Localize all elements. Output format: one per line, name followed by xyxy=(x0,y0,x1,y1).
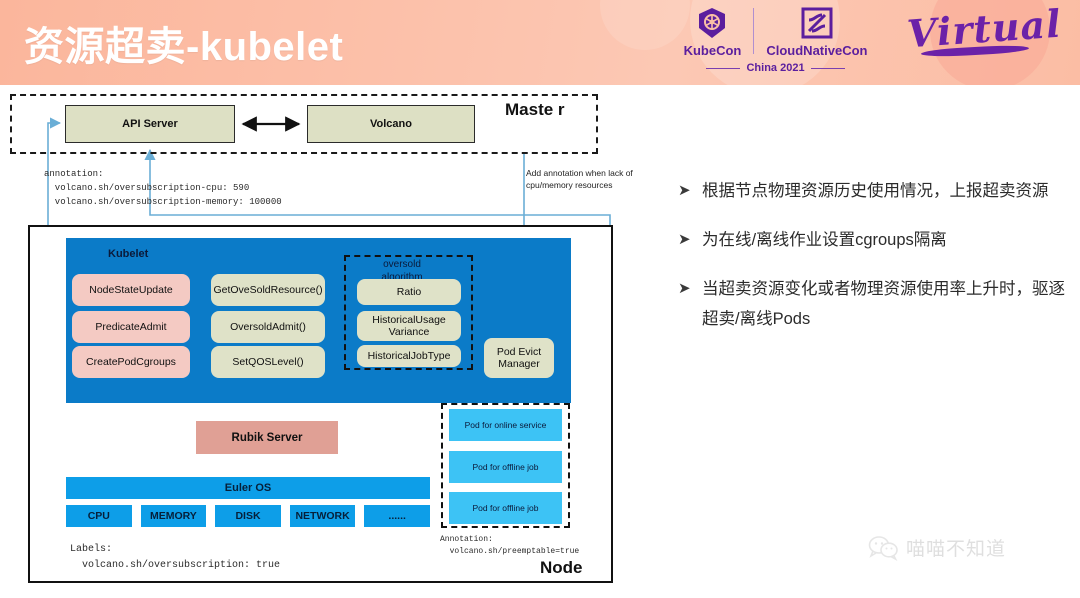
annotation-code-block: annotation: volcano.sh/oversubscription-… xyxy=(44,167,282,209)
bullet-marker-icon: ➤ xyxy=(678,274,702,304)
pod-evict-manager-box[interactable]: Pod Evict Manager xyxy=(484,338,554,378)
ratio-box[interactable]: Ratio xyxy=(357,279,461,305)
kubecon-logo: KubeCon xyxy=(672,4,754,58)
bullet-text: 为在线/离线作业设置cgroups隔离 xyxy=(702,225,1068,255)
bullet-marker-icon: ➤ xyxy=(678,225,702,255)
list-item: ➤ 为在线/离线作业设置cgroups隔离 xyxy=(678,225,1068,255)
bullet-text: 当超卖资源变化或者物理资源使用率上升时，驱逐超卖/离线Pods xyxy=(702,274,1068,334)
bullet-text: 根据节点物理资源历史使用情况，上报超卖资源 xyxy=(702,176,1068,206)
virtual-badge: Virtual xyxy=(907,6,1062,51)
cloudnativecon-label: CloudNativeCon xyxy=(766,43,867,58)
resource-row: CPU MEMORY DISK NETWORK ...... xyxy=(66,505,430,527)
resource-more[interactable]: ...... xyxy=(364,505,430,527)
kubecon-label: KubeCon xyxy=(684,43,742,58)
wechat-watermark: 喵喵不知道 xyxy=(868,534,1006,561)
list-item: ➤ 当超卖资源变化或者物理资源使用率上升时，驱逐超卖/离线Pods xyxy=(678,274,1068,334)
rubik-server-box[interactable]: Rubik Server xyxy=(196,421,338,454)
resource-disk[interactable]: DISK xyxy=(215,505,281,527)
slide-header: 资源超卖-kubelet xyxy=(0,0,1080,85)
oversold-admit-box[interactable]: OversoldAdmit() xyxy=(211,311,325,343)
resource-network[interactable]: NETWORK xyxy=(290,505,356,527)
bullet-list: ➤ 根据节点物理资源历史使用情况，上报超卖资源 ➤ 为在线/离线作业设置cgro… xyxy=(678,176,1068,353)
pod-offline-job-1[interactable]: Pod for offline job xyxy=(449,451,562,483)
create-pod-cgroups-box[interactable]: CreatePodCgroups xyxy=(72,346,190,378)
kubelet-title: Kubelet xyxy=(108,248,148,260)
node-label: Node xyxy=(540,558,583,578)
edition-row: China 2021 xyxy=(672,62,880,74)
pod-online-service[interactable]: Pod for online service xyxy=(449,409,562,441)
list-item: ➤ 根据节点物理资源历史使用情况，上报超卖资源 xyxy=(678,176,1068,206)
set-qos-level-box[interactable]: SetQOSLevel() xyxy=(211,346,325,378)
page-title: 资源超卖-kubelet xyxy=(24,14,343,72)
labels-code-block: Labels: volcano.sh/oversubscription: tru… xyxy=(70,542,280,574)
wechat-icon xyxy=(868,535,898,561)
master-label: Maste r xyxy=(505,101,567,119)
volcano-node[interactable]: Volcano xyxy=(307,105,475,143)
pods-annotation-code: Annotation: volcano.sh/preemptable=true xyxy=(440,534,579,558)
kubernetes-helm-icon xyxy=(695,4,729,42)
predicate-admit-box[interactable]: PredicateAdmit xyxy=(72,311,190,343)
euler-os-box[interactable]: Euler OS xyxy=(66,477,430,499)
slide: 资源超卖-kubelet xyxy=(0,0,1080,598)
bullet-marker-icon: ➤ xyxy=(678,176,702,206)
historical-job-type-box[interactable]: HistoricalJobType xyxy=(357,345,461,367)
historical-usage-variance-box[interactable]: HistoricalUsage Variance xyxy=(357,311,461,341)
cloudnativecon-logo: CloudNativeCon xyxy=(754,4,879,58)
kubecon-cloudnativecon-group: KubeCon CloudNativeCon xyxy=(672,4,880,58)
conference-logo-lockup: KubeCon CloudNativeCon xyxy=(672,4,1062,82)
pod-offline-job-2[interactable]: Pod for offline job xyxy=(449,492,562,524)
cloudnativecon-square-icon xyxy=(800,4,834,42)
edition-rule-right xyxy=(811,68,845,69)
watermark-text: 喵喵不知道 xyxy=(906,534,1006,561)
node-state-update-box[interactable]: NodeStateUpdate xyxy=(72,274,190,306)
resource-cpu[interactable]: CPU xyxy=(66,505,132,527)
annotation-note: Add annotation when lack of cpu/memory r… xyxy=(526,167,644,191)
edition-label: China 2021 xyxy=(746,62,804,74)
edition-rule-left xyxy=(706,68,740,69)
resource-memory[interactable]: MEMORY xyxy=(141,505,207,527)
api-server-node[interactable]: API Server xyxy=(65,105,235,143)
get-oversold-resource-box[interactable]: GetOveSoldResource() xyxy=(211,274,325,306)
